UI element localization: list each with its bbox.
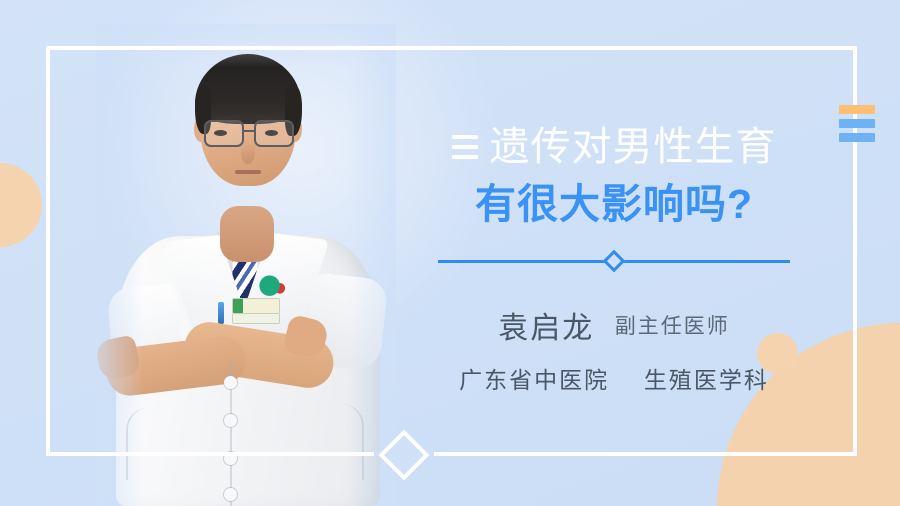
doctor-photo [96, 24, 396, 506]
page-title-line-1: 遗传对男性生育 [490, 127, 777, 167]
speaker-affiliation: 广东省中医院 生殖医学科 [404, 361, 824, 395]
bar-blue-2 [839, 133, 875, 142]
bar-blue-1 [839, 119, 875, 128]
photo-top-fade [96, 24, 396, 506]
cover-slide: 遗传对男性生育 有很大影响吗? 袁启龙 副主任医师 广东省中医院 生殖医学科 [0, 0, 900, 506]
bar-marker [839, 105, 875, 147]
divider-diamond-icon [603, 250, 626, 273]
divider [438, 251, 790, 271]
speaker-name: 袁启龙 [498, 312, 594, 345]
content-block: 遗传对男性生育 有很大影响吗? 袁启龙 副主任医师 广东省中医院 生殖医学科 [404, 118, 824, 395]
hamburger-icon [452, 135, 478, 159]
speaker-department: 生殖医学科 [644, 367, 769, 393]
title-line-1-row: 遗传对男性生育 [404, 118, 824, 176]
page-title-line-2: 有很大影响吗? [404, 184, 824, 225]
bar-orange [839, 105, 875, 114]
speaker-hospital: 广东省中医院 [459, 367, 609, 393]
speaker-line: 袁启龙 副主任医师 [404, 303, 824, 347]
speaker-rank: 副主任医师 [615, 315, 730, 338]
